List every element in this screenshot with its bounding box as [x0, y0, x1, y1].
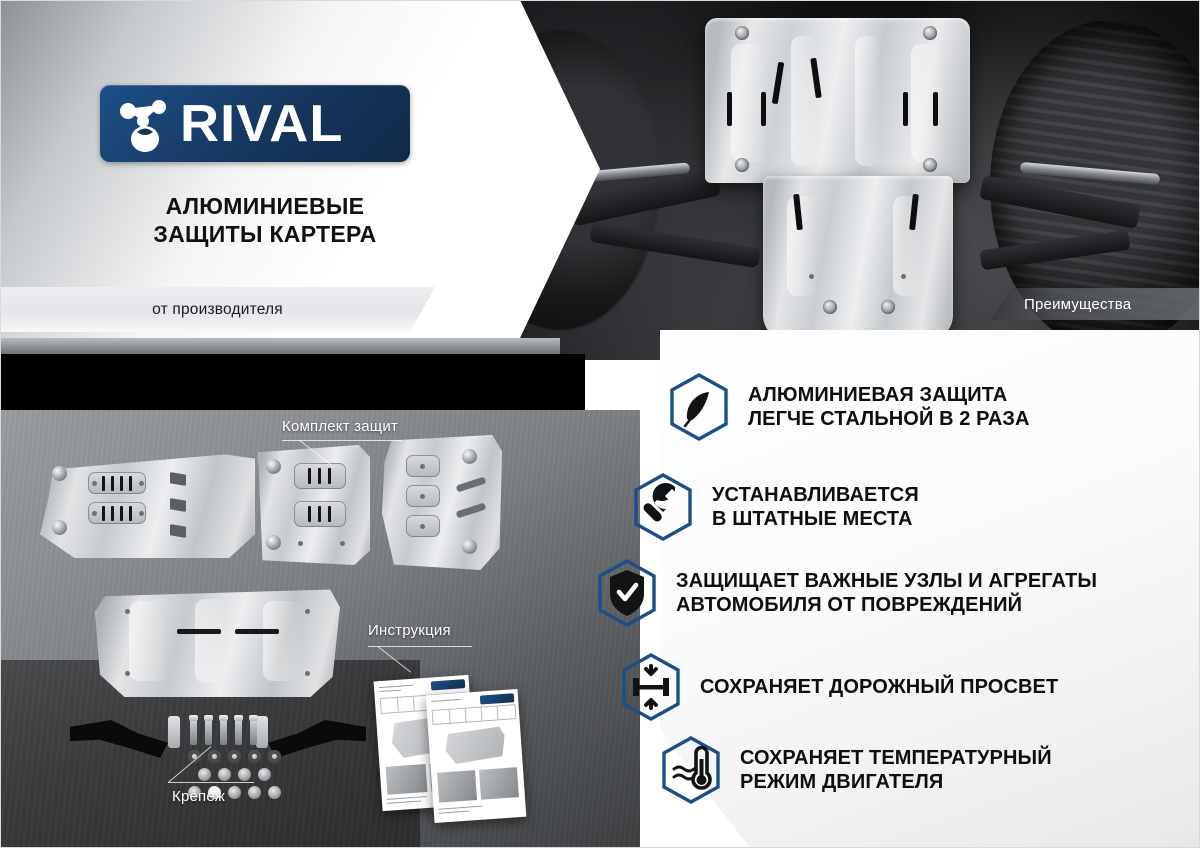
skid-plate-small — [382, 435, 502, 570]
feature-item-2: УСТАНАВЛИВАЕТСЯ В ШТАТНЫЕ МЕСТА — [632, 472, 919, 542]
wrench-icon — [632, 472, 694, 542]
bolt — [220, 715, 227, 745]
bolt — [205, 715, 212, 745]
feature-3-line1: ЗАЩИЩАЕТ ВАЖНЫЕ УЗЛЫ И АГРЕГАТЫ — [676, 569, 1097, 593]
tab-advantages[interactable]: Преимущества — [990, 288, 1200, 320]
tab-advantages-label: Преимущества — [1024, 296, 1131, 313]
feature-1-line2: ЛЕГЧЕ СТАЛЬНОЙ В 2 РАЗА — [748, 407, 1030, 431]
shield-check-icon — [596, 558, 658, 628]
washer — [268, 750, 281, 763]
product-showcase: Комплект защит Инструкция Крепеж — [0, 410, 640, 848]
feature-1-text: АЛЮМИНИЕВАЯ ЗАЩИТА ЛЕГЧЕ СТАЛЬНОЙ В 2 РА… — [748, 383, 1030, 432]
nut — [218, 768, 231, 781]
ground-clearance-icon — [620, 652, 682, 722]
kit-label: Комплект защит — [282, 418, 398, 435]
page-title-line1: АЛЮМИНИЕВЫЕ — [100, 192, 430, 220]
feature-2-text: УСТАНАВЛИВАЕТСЯ В ШТАТНЫЕ МЕСТА — [712, 483, 919, 532]
spacer-plate — [168, 716, 180, 748]
subtitle-text: от производителя — [152, 301, 283, 319]
installed-skid-plate-upper — [705, 18, 970, 183]
skid-plate-wide — [95, 585, 340, 697]
washer — [248, 750, 261, 763]
feature-4-text: СОХРАНЯЕТ ДОРОЖНЫЙ ПРОСВЕТ — [700, 675, 1058, 699]
feature-5-line2: РЕЖИМ ДВИГАТЕЛЯ — [740, 770, 1052, 794]
instruction-label: Инструкция — [368, 622, 451, 639]
promo-banner: Преимущества RIVAL АЛЮМИНИЕВЫЕ ЗАЩИТЫ КА… — [0, 0, 1200, 848]
nut — [258, 768, 271, 781]
feature-5-text: СОХРАНЯЕТ ТЕМПЕРАТУРНЫЙ РЕЖИМ ДВИГАТЕЛЯ — [740, 746, 1052, 795]
brand-panel: RIVAL АЛЮМИНИЕВЫЕ ЗАЩИТЫ КАРТЕРА от прои… — [0, 0, 600, 338]
nut — [238, 768, 251, 781]
feature-item-1: АЛЮМИНИЕВАЯ ЗАЩИТА ЛЕГЧЕ СТАЛЬНОЙ В 2 РА… — [668, 372, 1030, 442]
feature-item-3: ЗАЩИЩАЕТ ВАЖНЫЕ УЗЛЫ И АГРЕГАТЫ АВТОМОБИ… — [596, 558, 1097, 628]
feature-3-text: ЗАЩИЩАЕТ ВАЖНЫЕ УЗЛЫ И АГРЕГАТЫ АВТОМОБИ… — [676, 569, 1097, 618]
rival-logo: RIVAL — [100, 85, 410, 162]
nut — [268, 786, 281, 799]
nut — [248, 786, 261, 799]
feature-item-4: СОХРАНЯЕТ ДОРОЖНЫЙ ПРОСВЕТ — [620, 652, 1058, 722]
feather-icon — [668, 372, 730, 442]
molecule-icon — [114, 95, 176, 153]
feature-5-line1: СОХРАНЯЕТ ТЕМПЕРАТУРНЫЙ — [740, 746, 1052, 770]
feature-2-line1: УСТАНАВЛИВАЕТСЯ — [712, 483, 919, 507]
feature-item-5: СОХРАНЯЕТ ТЕМПЕРАТУРНЫЙ РЕЖИМ ДВИГАТЕЛЯ — [660, 735, 1052, 805]
thermometer-icon — [660, 735, 722, 805]
divider-strip — [0, 338, 560, 354]
feature-1-line1: АЛЮМИНИЕВАЯ ЗАЩИТА — [748, 383, 1030, 407]
page-title-line2: ЗАЩИТЫ КАРТЕРА — [100, 220, 430, 248]
installed-skid-plate-lower — [763, 176, 953, 341]
bolt — [190, 715, 197, 745]
nut — [198, 768, 211, 781]
bolt — [235, 715, 242, 745]
feature-4-line1: СОХРАНЯЕТ ДОРОЖНЫЙ ПРОСВЕТ — [700, 675, 1058, 699]
skid-plate-medium — [258, 445, 370, 565]
skid-plate-large — [40, 450, 255, 558]
rival-wordmark: RIVAL — [180, 98, 343, 150]
fasteners-label: Крепеж — [172, 788, 225, 805]
nut — [228, 786, 241, 799]
feature-3-line2: АВТОМОБИЛЯ ОТ ПОВРЕЖДЕНИЙ — [676, 593, 1097, 617]
bolt — [250, 715, 257, 745]
page-title: АЛЮМИНИЕВЫЕ ЗАЩИТЫ КАРТЕРА — [100, 192, 430, 248]
subtitle-bar: от производителя — [0, 287, 435, 332]
instruction-sheet-2 — [426, 689, 527, 823]
washer — [228, 750, 241, 763]
washer — [208, 750, 221, 763]
feature-2-line2: В ШТАТНЫЕ МЕСТА — [712, 507, 919, 531]
black-band — [0, 354, 585, 410]
spacer-plate — [256, 716, 268, 748]
